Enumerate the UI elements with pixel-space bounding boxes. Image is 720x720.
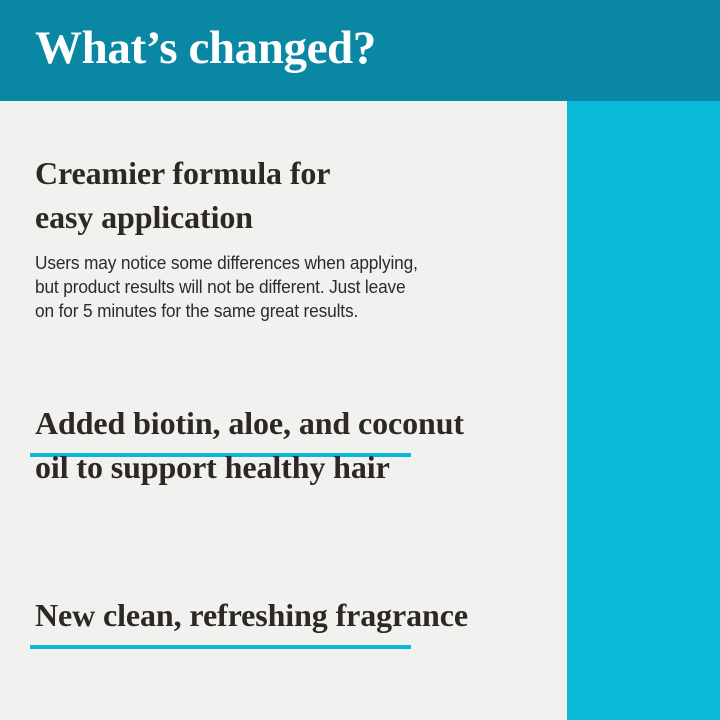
section-heading: Creamier formula for easy application <box>35 151 535 239</box>
section-added-biotin: Added biotin, aloe, and coconut oil to s… <box>35 401 555 489</box>
section-heading: New clean, refreshing fragrance <box>35 593 555 637</box>
section-heading: Added biotin, aloe, and coconut oil to s… <box>35 401 555 489</box>
section-body: Users may notice some differences when a… <box>35 251 515 323</box>
section-creamier-formula: Creamier formula for easy application Us… <box>35 151 535 323</box>
header-band: What’s changed? <box>0 0 720 101</box>
accent-column <box>567 101 720 720</box>
section-new-fragrance: New clean, refreshing fragrance <box>35 593 555 637</box>
infographic-page: What’s changed? Creamier formula for eas… <box>0 0 720 720</box>
content-area: Creamier formula for easy application Us… <box>0 101 567 720</box>
page-title: What’s changed? <box>35 19 376 77</box>
section-divider <box>30 645 411 649</box>
